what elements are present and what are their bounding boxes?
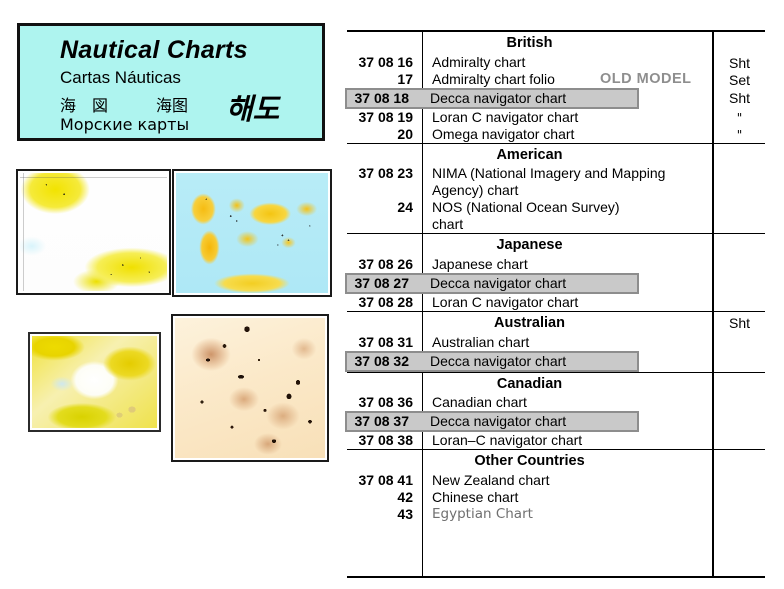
row-description: Decca navigator chart	[420, 353, 637, 370]
section-title: Japanese	[347, 234, 765, 256]
row-code: 24	[347, 199, 422, 216]
title-english: Nautical Charts	[60, 36, 248, 65]
row-description: Japanese chart	[422, 256, 765, 273]
row-code: 37 08 16	[347, 54, 422, 71]
row-description: Chinese chart	[422, 489, 765, 506]
row-description: NOS (National Ocean Survey) chart	[422, 199, 765, 233]
catalogue-row[interactable]: 37 08 41New Zealand chart	[347, 472, 765, 489]
title-korean: 해도	[226, 86, 279, 128]
catalogue-section: Other Countries37 08 41New Zealand chart…	[347, 449, 765, 523]
world-chart-thumbnail	[172, 169, 332, 297]
row-code: 37 08 32	[347, 353, 420, 370]
row-code: 43	[347, 506, 422, 523]
catalogue-row[interactable]: 20Omega navigator chart	[347, 126, 765, 143]
section-title: Other Countries	[347, 450, 765, 472]
row-code: 37 08 37	[347, 413, 420, 430]
catalogue-row[interactable]: 37 08 36Canadian chart	[347, 394, 765, 411]
title-cjk: 海 図 海图	[60, 92, 188, 116]
catalogue-row[interactable]: 37 08 26Japanese chart	[347, 256, 765, 273]
row-code: 37 08 26	[347, 256, 422, 273]
row-description: Egyptian Chart	[422, 506, 765, 523]
row-description: Decca navigator chart	[420, 275, 637, 292]
row-description: Admiralty chart	[422, 54, 765, 71]
row-code: 42	[347, 489, 422, 506]
row-code: 37 08 18	[347, 90, 420, 107]
section-title: Australian	[347, 312, 765, 334]
row-code: 20	[347, 126, 422, 143]
catalogue-row-highlighted[interactable]: 37 08 32Decca navigator chart	[345, 351, 639, 372]
catalogue-row[interactable]: 37 08 28Loran C navigator chart	[347, 294, 765, 311]
row-code: 37 08 41	[347, 472, 422, 489]
catalogue-row-highlighted[interactable]: 37 08 18Decca navigator chart	[345, 88, 639, 109]
section-title: Canadian	[347, 373, 765, 395]
row-description: Australian chart	[422, 334, 765, 351]
row-description: New Zealand chart	[422, 472, 765, 489]
nautical-charts-catalogue-table: British37 08 16Admiralty chart17Admiralt…	[347, 30, 765, 578]
catalogue-row[interactable]: 43Egyptian Chart	[347, 506, 765, 523]
row-description: Canadian chart	[422, 394, 765, 411]
row-description: Loran–C navigator chart	[422, 432, 765, 449]
row-note-badge: OLD MODEL	[600, 71, 692, 88]
row-code: 37 08 19	[347, 109, 422, 126]
title-spanish: Cartas Náuticas	[60, 68, 181, 88]
row-description: Admiralty chart folio	[422, 71, 765, 88]
bay-chart-thumbnail	[28, 332, 161, 432]
catalogue-row-highlighted[interactable]: 37 08 27Decca navigator chart	[345, 273, 639, 294]
title-russian: Морские карты	[60, 115, 189, 134]
catalogue-section: Australian37 08 31Australian chart37 08 …	[347, 311, 765, 372]
section-title: British	[347, 32, 765, 54]
nautical-charts-title-plate: Nautical Charts Cartas Náuticas 海 図 海图 М…	[17, 23, 325, 141]
row-code: 37 08 36	[347, 394, 422, 411]
row-description: Loran C navigator chart	[422, 294, 765, 311]
catalogue-row[interactable]: 37 08 19Loran C navigator chart	[347, 109, 765, 126]
catalogue-row[interactable]: 17Admiralty chart folioOLD MODEL	[347, 71, 765, 88]
row-code: 37 08 31	[347, 334, 422, 351]
catalogue-row[interactable]: 37 08 16Admiralty chart	[347, 54, 765, 71]
section-title: American	[347, 144, 765, 166]
row-description: Decca navigator chart	[420, 413, 637, 430]
row-code: 17	[347, 71, 422, 88]
catalogue-section: American37 08 23NIMA (National Imagery a…	[347, 143, 765, 234]
row-code: 37 08 28	[347, 294, 422, 311]
row-description: Loran C navigator chart	[422, 109, 765, 126]
row-description: Decca navigator chart	[420, 90, 637, 107]
catalogue-row-highlighted[interactable]: 37 08 37Decca navigator chart	[345, 411, 639, 432]
row-code: 37 08 27	[347, 275, 420, 292]
catalogue-section: Canadian37 08 36Canadian chart37 08 37De…	[347, 372, 765, 450]
row-description: NIMA (National Imagery and Mapping Agenc…	[422, 165, 765, 199]
catalogue-row[interactable]: 37 08 23NIMA (National Imagery and Mappi…	[347, 165, 765, 199]
catalogue-row[interactable]: 42Chinese chart	[347, 489, 765, 506]
row-code: 37 08 38	[347, 432, 422, 449]
antique-chart-thumbnail	[171, 314, 329, 462]
catalogue-section: Japanese37 08 26Japanese chart37 08 27De…	[347, 233, 765, 311]
catalogue-row[interactable]: 37 08 38Loran–C navigator chart	[347, 432, 765, 449]
catalogue-row[interactable]: 37 08 31Australian chart	[347, 334, 765, 351]
row-code: 37 08 23	[347, 165, 422, 182]
catalogue-section: British37 08 16Admiralty chart17Admiralt…	[347, 32, 765, 143]
catalogue-row[interactable]: 24NOS (National Ocean Survey) chart	[347, 199, 765, 233]
coastal-chart-thumbnail	[16, 169, 171, 295]
row-description: Omega navigator chart	[422, 126, 765, 143]
